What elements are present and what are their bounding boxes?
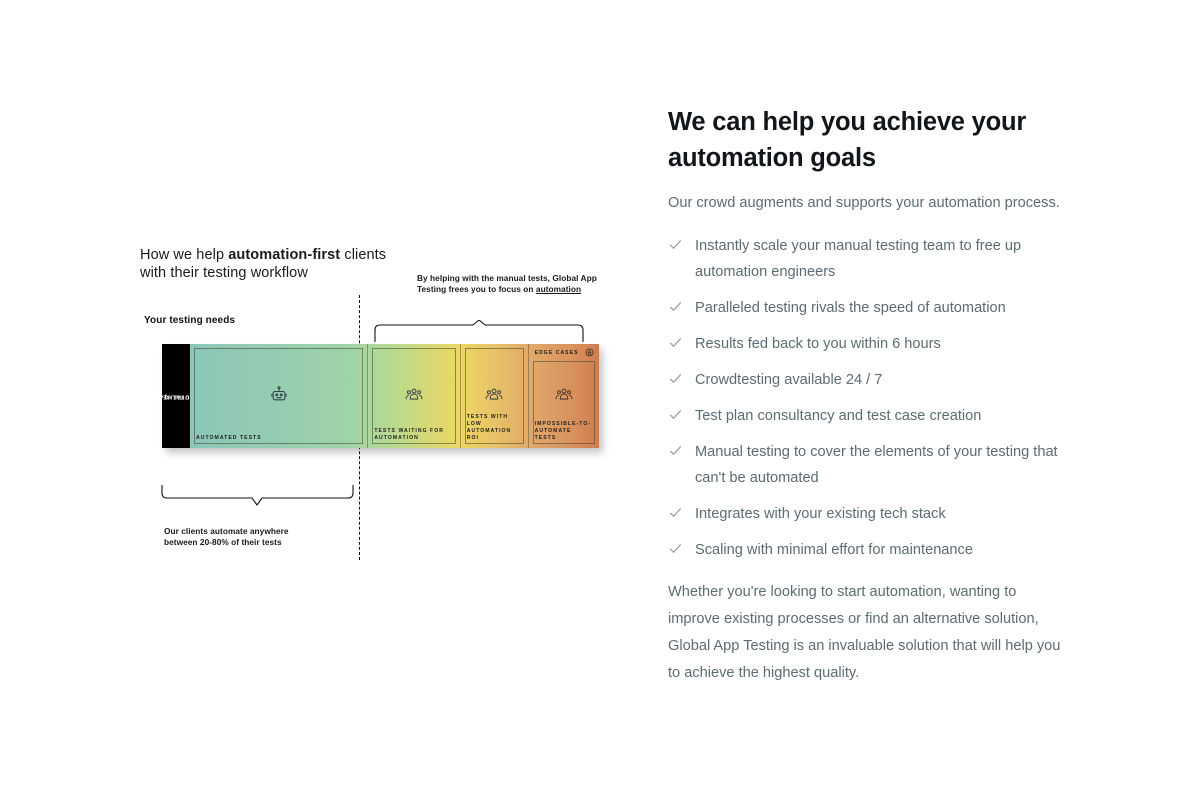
- manual-tests-brace: [373, 320, 585, 342]
- page-title: We can help you achieve your automation …: [668, 104, 1072, 176]
- your-testing-needs-label: Your testing needs: [144, 315, 235, 326]
- annotation-clients-automate-note: Our clients automate anywhere between 20…: [164, 526, 364, 548]
- lock-icon: [585, 348, 594, 357]
- list-item: Test plan consultancy and test case crea…: [668, 403, 1072, 429]
- infographic-title-prefix: How we help: [140, 247, 228, 263]
- list-item-label: Crowdtesting available 24 / 7: [695, 372, 882, 388]
- segment-automated-tests-label: AUTOMATED TESTS: [196, 435, 363, 442]
- check-icon: [668, 443, 683, 458]
- qa-requirements-bar: TOTAL QA REQUIREMENTS AUTOMATED TESTS: [162, 344, 599, 448]
- annotation-manual-tests-note: By helping with the manual tests, Global…: [417, 273, 607, 295]
- annotation-bottom-line2: between 20-80% of their tests: [164, 537, 282, 547]
- check-icon: [668, 237, 683, 252]
- benefits-list: Instantly scale your manual testing team…: [668, 233, 1072, 563]
- infographic-title-bold: automation-first: [228, 247, 340, 263]
- testing-workflow-infographic: How we help automation-first clients wit…: [140, 240, 610, 570]
- list-item-label: Scaling with minimal effort for maintena…: [695, 542, 973, 558]
- annotation-note-line1: By helping with the manual tests, Global…: [417, 273, 597, 283]
- list-item-label: Instantly scale your manual testing team…: [695, 238, 1021, 280]
- infographic-title: How we help automation-first clients wit…: [140, 246, 390, 282]
- segment-tests-waiting-for-automation[interactable]: TESTS WAITING FOR AUTOMATION: [368, 344, 460, 448]
- people-group-icon: [485, 384, 504, 403]
- people-group-icon: [405, 384, 424, 403]
- segment-impossible-to-automate-tests[interactable]: EDGE CASES: [529, 344, 599, 448]
- list-item: Instantly scale your manual testing team…: [668, 233, 1072, 285]
- list-item: Manual testing to cover the elements of …: [668, 439, 1072, 491]
- clients-automate-brace: [160, 485, 355, 507]
- segment-automated-tests[interactable]: AUTOMATED TESTS: [190, 344, 368, 448]
- people-group-icon: [554, 384, 573, 403]
- edge-cases-header: EDGE CASES: [535, 348, 594, 357]
- list-item: Crowdtesting available 24 / 7: [668, 367, 1072, 393]
- segment-low-roi-label: TESTS WITH LOW AUTOMATION ROI: [467, 414, 524, 442]
- check-icon: [668, 335, 683, 350]
- check-icon: [668, 371, 683, 386]
- list-item: Paralleled testing rivals the speed of a…: [668, 295, 1072, 321]
- check-icon: [668, 541, 683, 556]
- list-item-label: Manual testing to cover the elements of …: [695, 444, 1058, 486]
- total-qa-requirements-sidebar: TOTAL QA REQUIREMENTS: [162, 344, 190, 448]
- list-item-label: Integrates with your existing tech stack: [695, 506, 946, 522]
- check-icon: [668, 299, 683, 314]
- segment-tests-waiting-label: TESTS WAITING FOR AUTOMATION: [374, 428, 455, 442]
- list-item-label: Results fed back to you within 6 hours: [695, 336, 941, 352]
- annotation-note-line2-prefix: Testing frees you to focus on: [417, 284, 536, 294]
- edge-cases-label: EDGE CASES: [535, 350, 579, 356]
- intro-paragraph: Our crowd augments and supports your aut…: [668, 190, 1072, 217]
- segment-impossible-label: IMPOSSIBLE-TO- AUTOMATE TESTS: [535, 421, 595, 442]
- infographic-title-suffix: clients: [340, 247, 386, 263]
- page-root: How we help automation-first clients wit…: [0, 0, 1200, 796]
- list-item: Scaling with minimal effort for maintena…: [668, 537, 1072, 563]
- list-item-label: Paralleled testing rivals the speed of a…: [695, 300, 1006, 316]
- list-item: Results fed back to you within 6 hours: [668, 331, 1072, 357]
- robot-icon: [269, 384, 289, 404]
- list-item-label: Test plan consultancy and test case crea…: [695, 408, 981, 424]
- check-icon: [668, 505, 683, 520]
- annotation-bottom-line1: Our clients automate anywhere: [164, 526, 289, 536]
- annotation-note-automation-link[interactable]: automation: [536, 284, 581, 294]
- automation-goals-section: We can help you achieve your automation …: [668, 104, 1072, 687]
- segment-tests-low-automation-roi[interactable]: TESTS WITH LOW AUTOMATION ROI: [461, 344, 529, 448]
- qa-gradient-track: AUTOMATED TESTS TESTS WAITING FOR AUTOMA…: [190, 344, 599, 448]
- list-item: Integrates with your existing tech stack: [668, 501, 1072, 527]
- infographic-title-line2: with their testing workflow: [140, 265, 308, 281]
- closing-paragraph: Whether you're looking to start automati…: [668, 579, 1072, 687]
- check-icon: [668, 407, 683, 422]
